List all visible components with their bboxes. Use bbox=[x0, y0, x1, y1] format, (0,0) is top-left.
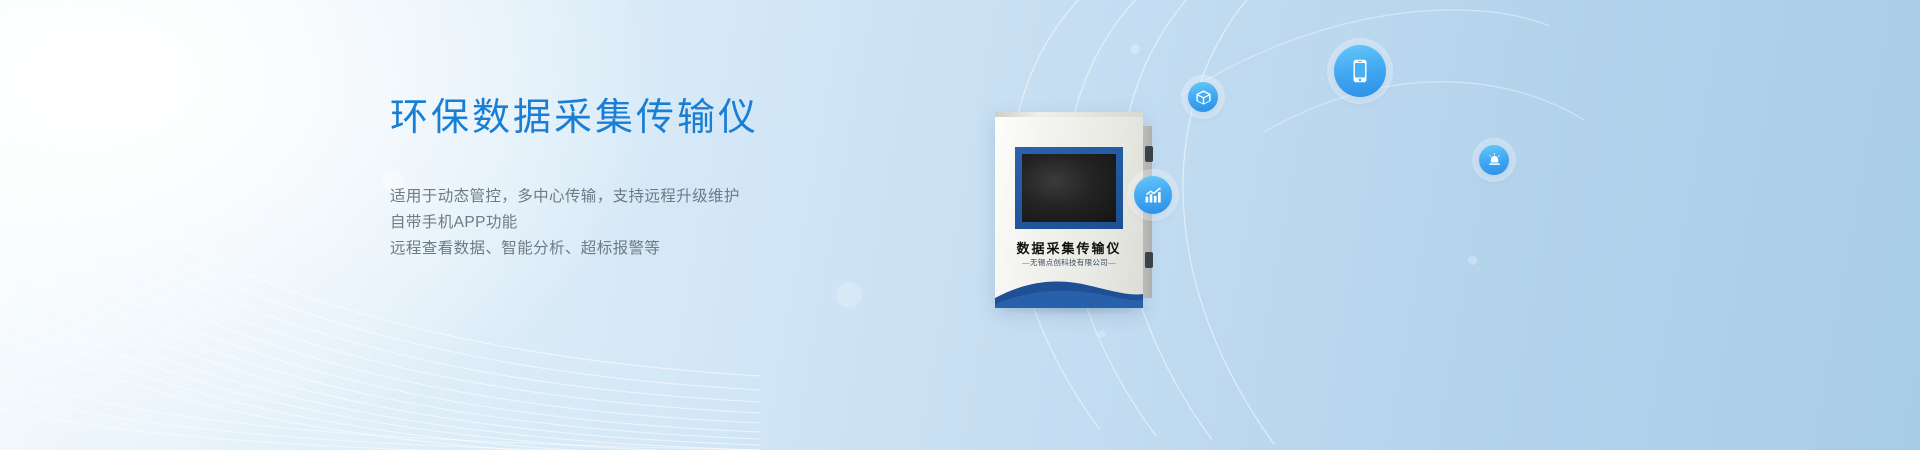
device-name-label: 数据采集传输仪 bbox=[995, 238, 1143, 257]
feature-item: 远程查看数据、智能分析、超标报警等 bbox=[390, 236, 990, 262]
feature-list: 适用于动态管控，多中心传输，支持远程升级维护 自带手机APP功能 远程查看数据、… bbox=[390, 184, 990, 262]
banner-copy: 环保数据采集传输仪 适用于动态管控，多中心传输，支持远程升级维护 自带手机APP… bbox=[390, 96, 990, 262]
device-connector bbox=[1145, 252, 1153, 268]
alarm-icon[interactable] bbox=[1479, 145, 1509, 175]
device-wave-band bbox=[995, 274, 1143, 308]
chart-icon[interactable] bbox=[1134, 176, 1172, 214]
phone-icon[interactable] bbox=[1334, 45, 1386, 97]
device-company-label: —无锡点创科技有限公司— bbox=[995, 257, 1143, 268]
feature-item: 适用于动态管控，多中心传输，支持远程升级维护 bbox=[390, 184, 990, 210]
device-body: 数据采集传输仪 —无锡点创科技有限公司— bbox=[995, 112, 1143, 308]
device-screen-bezel bbox=[1015, 147, 1123, 229]
product-banner: 环保数据采集传输仪 适用于动态管控，多中心传输，支持远程升级维护 自带手机APP… bbox=[0, 0, 1920, 450]
device-screen bbox=[1022, 154, 1116, 222]
feature-item: 自带手机APP功能 bbox=[390, 210, 990, 236]
product-device: 数据采集传输仪 —无锡点创科技有限公司— bbox=[995, 112, 1143, 308]
box-icon[interactable] bbox=[1188, 82, 1218, 112]
page-title: 环保数据采集传输仪 bbox=[390, 96, 990, 142]
device-connector bbox=[1145, 146, 1153, 162]
device-top-edge bbox=[995, 112, 1143, 117]
